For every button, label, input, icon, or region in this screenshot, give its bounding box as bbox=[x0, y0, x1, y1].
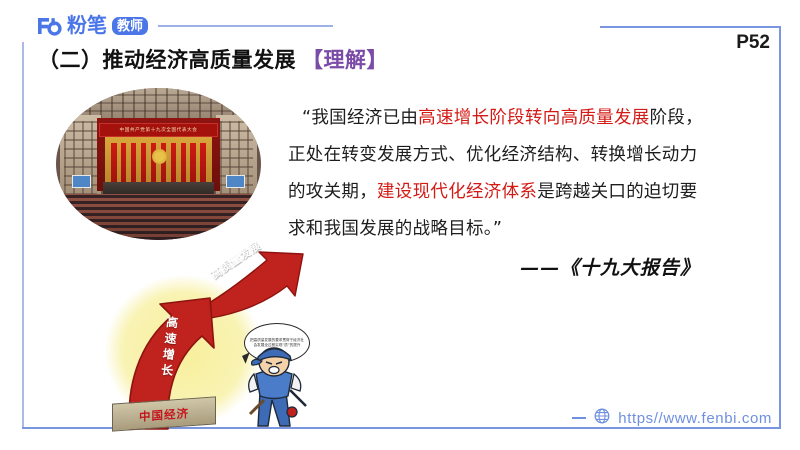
quote-line-1: “我国经济已由高速增长阶段转向高质量发展阶段， bbox=[288, 100, 760, 137]
economy-arrows-illustration: 高质量发展 高速增长 中国经济 把高质量发展的要求贯穿于经济社会发展全过程实现“… bbox=[98, 248, 313, 430]
footer-url-text[interactable]: https//www.fenbi.com bbox=[618, 410, 772, 427]
photo-party-emblem bbox=[152, 149, 166, 164]
quote-attribution: ——《十九大报告》 bbox=[520, 253, 700, 280]
page-title: （二）推动经济高质量发展 【理解】 bbox=[38, 44, 388, 74]
quote-line3-part-a: 的攻关期， bbox=[288, 182, 377, 202]
quote-line3-highlight: 建设现代化经济体系 bbox=[377, 182, 537, 202]
quote-block: “我国经济已由高速增长阶段转向高质量发展阶段， 正处在转变发展方式、优化经济结构… bbox=[288, 100, 760, 248]
brand-name: 粉笔 bbox=[67, 15, 107, 37]
photo-screen-left bbox=[72, 175, 90, 189]
footer-url-block[interactable]: https//www.fenbi.com bbox=[572, 408, 772, 428]
frame-border-left bbox=[22, 42, 24, 429]
congress-hall-photo: 中国共产党第十九次全国代表大会 bbox=[56, 88, 261, 240]
globe-icon bbox=[594, 408, 610, 428]
quote-line1-highlight: 高速增长阶段转向高质量发展 bbox=[418, 108, 649, 128]
quote-line-4: 求和我国发展的战略目标。” bbox=[288, 211, 760, 248]
photo-audience-seats bbox=[56, 194, 261, 240]
page-title-tag: 【理解】 bbox=[302, 44, 388, 74]
page-title-main: （二）推动经济高质量发展 bbox=[38, 44, 296, 74]
page-number: P52 bbox=[736, 32, 770, 54]
brand-badge: 教师 bbox=[112, 17, 148, 35]
quote-line1-part-a: “我国经济已由 bbox=[302, 108, 418, 128]
photo-screen-right bbox=[226, 175, 244, 189]
footer-dash bbox=[572, 417, 586, 419]
frame-border-right bbox=[779, 26, 781, 429]
quote-line-3: 的攻关期，建设现代化经济体系是跨越关口的迫切要 bbox=[288, 174, 760, 211]
quote-line-2: 正处在转变发展方式、优化经济结构、转换增长动力 bbox=[288, 137, 760, 174]
worker-character bbox=[240, 340, 316, 430]
fenbi-logo-icon bbox=[36, 15, 62, 37]
frame-border-top bbox=[600, 26, 781, 28]
quote-line3-part-b: 是跨越关口的迫切要 bbox=[537, 182, 697, 202]
header-divider bbox=[158, 25, 333, 27]
slide-root: 粉笔 教师 P52 （二）推动经济高质量发展 【理解】 中国共产党第十九次全国代… bbox=[0, 0, 800, 450]
quote-line1-part-b: 阶段， bbox=[650, 108, 703, 128]
photo-banner-text: 中国共产党第十九次全国代表大会 bbox=[99, 123, 218, 137]
brand-header: 粉笔 教师 bbox=[36, 13, 333, 39]
